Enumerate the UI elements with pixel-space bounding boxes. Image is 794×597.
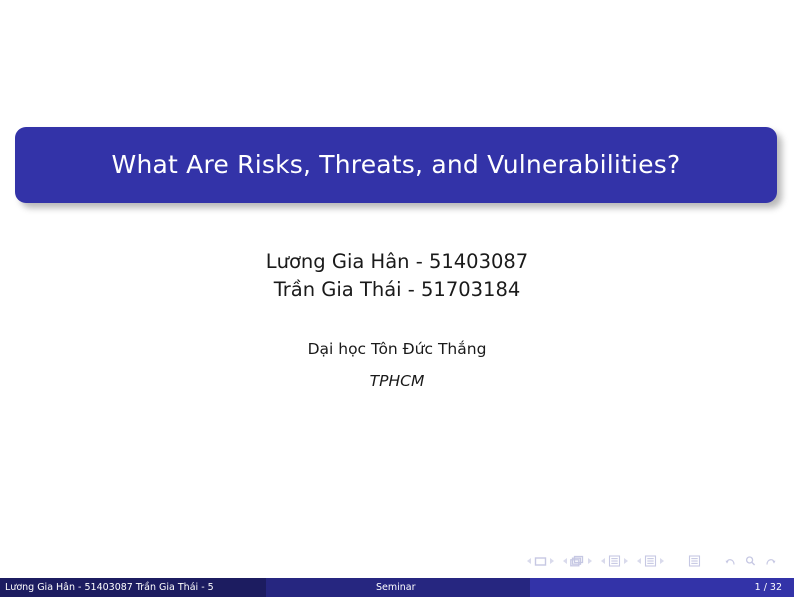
search-icon[interactable] <box>745 555 756 567</box>
frame-navigation-group[interactable] <box>563 555 592 567</box>
section-icon[interactable] <box>644 555 657 567</box>
author-name-1: Lương Gia Hân - 51403087 <box>0 248 794 276</box>
footer-bar: Lương Gia Hân - 51403087 Trần Gia Thái -… <box>0 578 794 597</box>
page-title: What Are Risks, Threats, and Vulnerabili… <box>112 151 681 179</box>
subsection-prev-icon[interactable] <box>601 558 605 564</box>
institute-name: Dại học Tôn Đức Thắng <box>0 338 794 361</box>
back-icon[interactable] <box>725 555 736 567</box>
footer-page-number: 1 / 32 <box>530 578 794 597</box>
subsection-icon[interactable] <box>608 555 621 567</box>
forward-icon[interactable] <box>765 555 776 567</box>
author-list: Lương Gia Hân - 51403087 Trần Gia Thái -… <box>0 248 794 303</box>
frames-icon[interactable] <box>570 555 585 567</box>
section-prev-icon[interactable] <box>637 558 641 564</box>
author-name-2: Trần Gia Thái - 51703184 <box>0 276 794 304</box>
document-icon[interactable] <box>688 555 701 567</box>
title-block: What Are Risks, Threats, and Vulnerabili… <box>15 127 777 203</box>
slide-prev-icon[interactable] <box>527 558 531 564</box>
footer-author: Lương Gia Hân - 51403087 Trần Gia Thái -… <box>0 578 266 597</box>
presentation-slide: What Are Risks, Threats, and Vulnerabili… <box>0 0 794 597</box>
section-next-icon[interactable] <box>660 558 664 564</box>
slide-icon[interactable] <box>534 556 547 567</box>
footer-title: Seminar <box>266 578 530 597</box>
frame-prev-icon[interactable] <box>563 558 567 564</box>
presentation-date: TPHCM <box>0 372 794 390</box>
beamer-navigation-bar[interactable] <box>527 551 776 571</box>
slide-next-icon[interactable] <box>550 558 554 564</box>
slide-navigation-group[interactable] <box>527 556 554 567</box>
section-navigation-group[interactable] <box>637 555 664 567</box>
subsection-navigation-group[interactable] <box>601 555 628 567</box>
title-block-background: What Are Risks, Threats, and Vulnerabili… <box>15 127 777 203</box>
subsection-next-icon[interactable] <box>624 558 628 564</box>
frame-next-icon[interactable] <box>588 558 592 564</box>
